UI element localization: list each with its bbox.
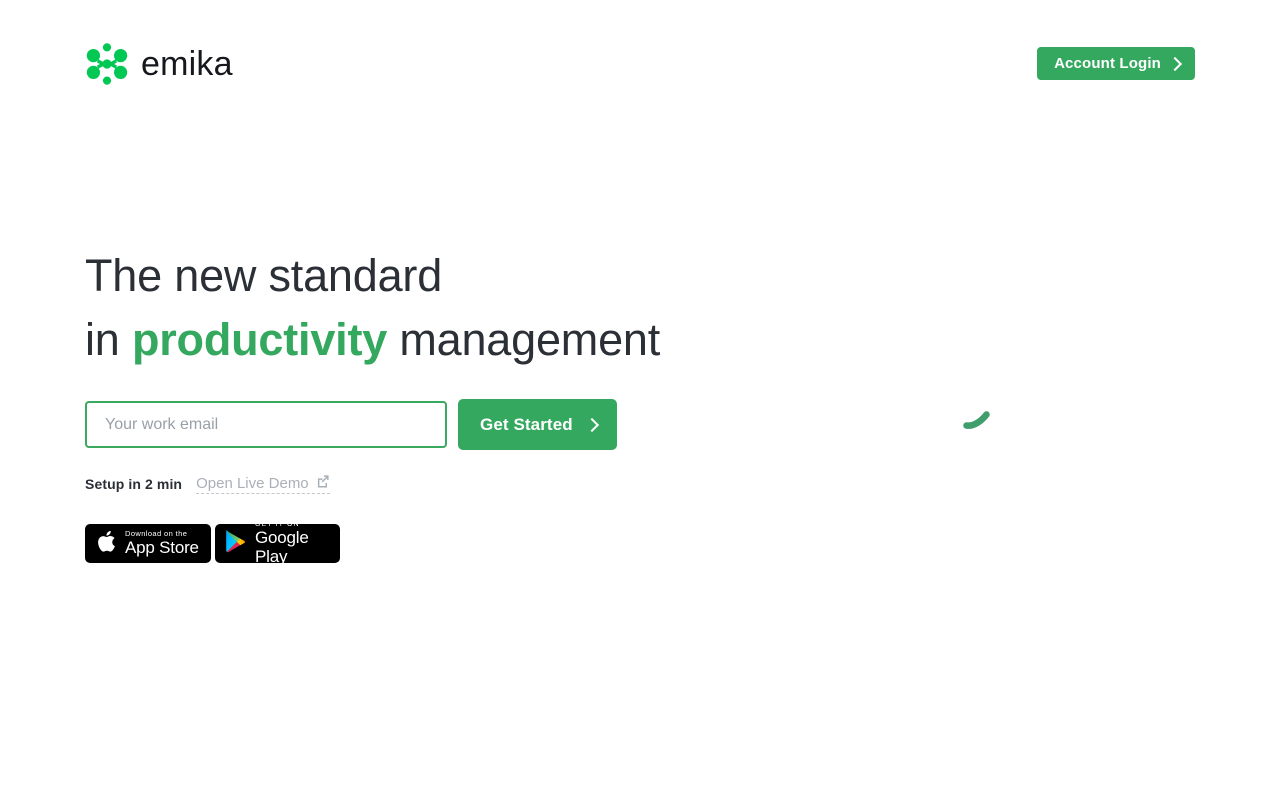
apple-logo-icon [96,529,117,559]
green-curve-stroke-icon [962,406,992,434]
google-play-icon [225,529,247,558]
hero-section: The new standard in productivity managem… [85,250,1195,366]
account-login-button[interactable]: Account Login [1037,47,1195,80]
headline-line-2: in productivity management [85,314,1195,366]
headline-line-1: The new standard [85,250,1195,302]
headline-accent-word: productivity [132,314,387,365]
brand-wordmark: emika [141,47,233,81]
google-play-badge[interactable]: GET IT ON Google Play [215,524,340,563]
chevron-right-icon [1168,56,1182,70]
emika-dot-cluster-logo-icon [85,42,129,86]
external-link-icon [316,474,330,492]
signup-form: Get Started [85,399,617,450]
setup-note: Setup in 2 min Open Live Demo [85,474,330,494]
setup-duration: 2 min [145,476,182,492]
chevron-right-icon [585,417,599,431]
open-live-demo-label: Open Live Demo [196,475,309,492]
store-badges: Download on the App Store [85,524,340,563]
site-header: emika Account Login [0,0,1280,128]
google-play-bottom-text: Google Play [255,528,331,566]
account-login-label: Account Login [1054,55,1161,72]
headline-suffix: management [387,314,660,365]
google-play-text: GET IT ON Google Play [255,521,331,567]
google-play-top-text: GET IT ON [255,521,331,529]
brand-logo-link[interactable]: emika [85,42,233,86]
headline-prefix: in [85,314,132,365]
app-store-top-text: Download on the [125,530,199,538]
get-started-label: Get Started [480,415,573,435]
app-store-bottom-text: App Store [125,538,199,557]
get-started-button[interactable]: Get Started [458,399,617,450]
setup-prefix: Setup in [85,476,145,492]
open-live-demo-link[interactable]: Open Live Demo [196,474,330,494]
app-store-badge[interactable]: Download on the App Store [85,524,211,563]
work-email-input[interactable] [85,401,447,448]
setup-duration-text: Setup in 2 min [85,476,182,492]
app-store-text: Download on the App Store [125,530,199,557]
